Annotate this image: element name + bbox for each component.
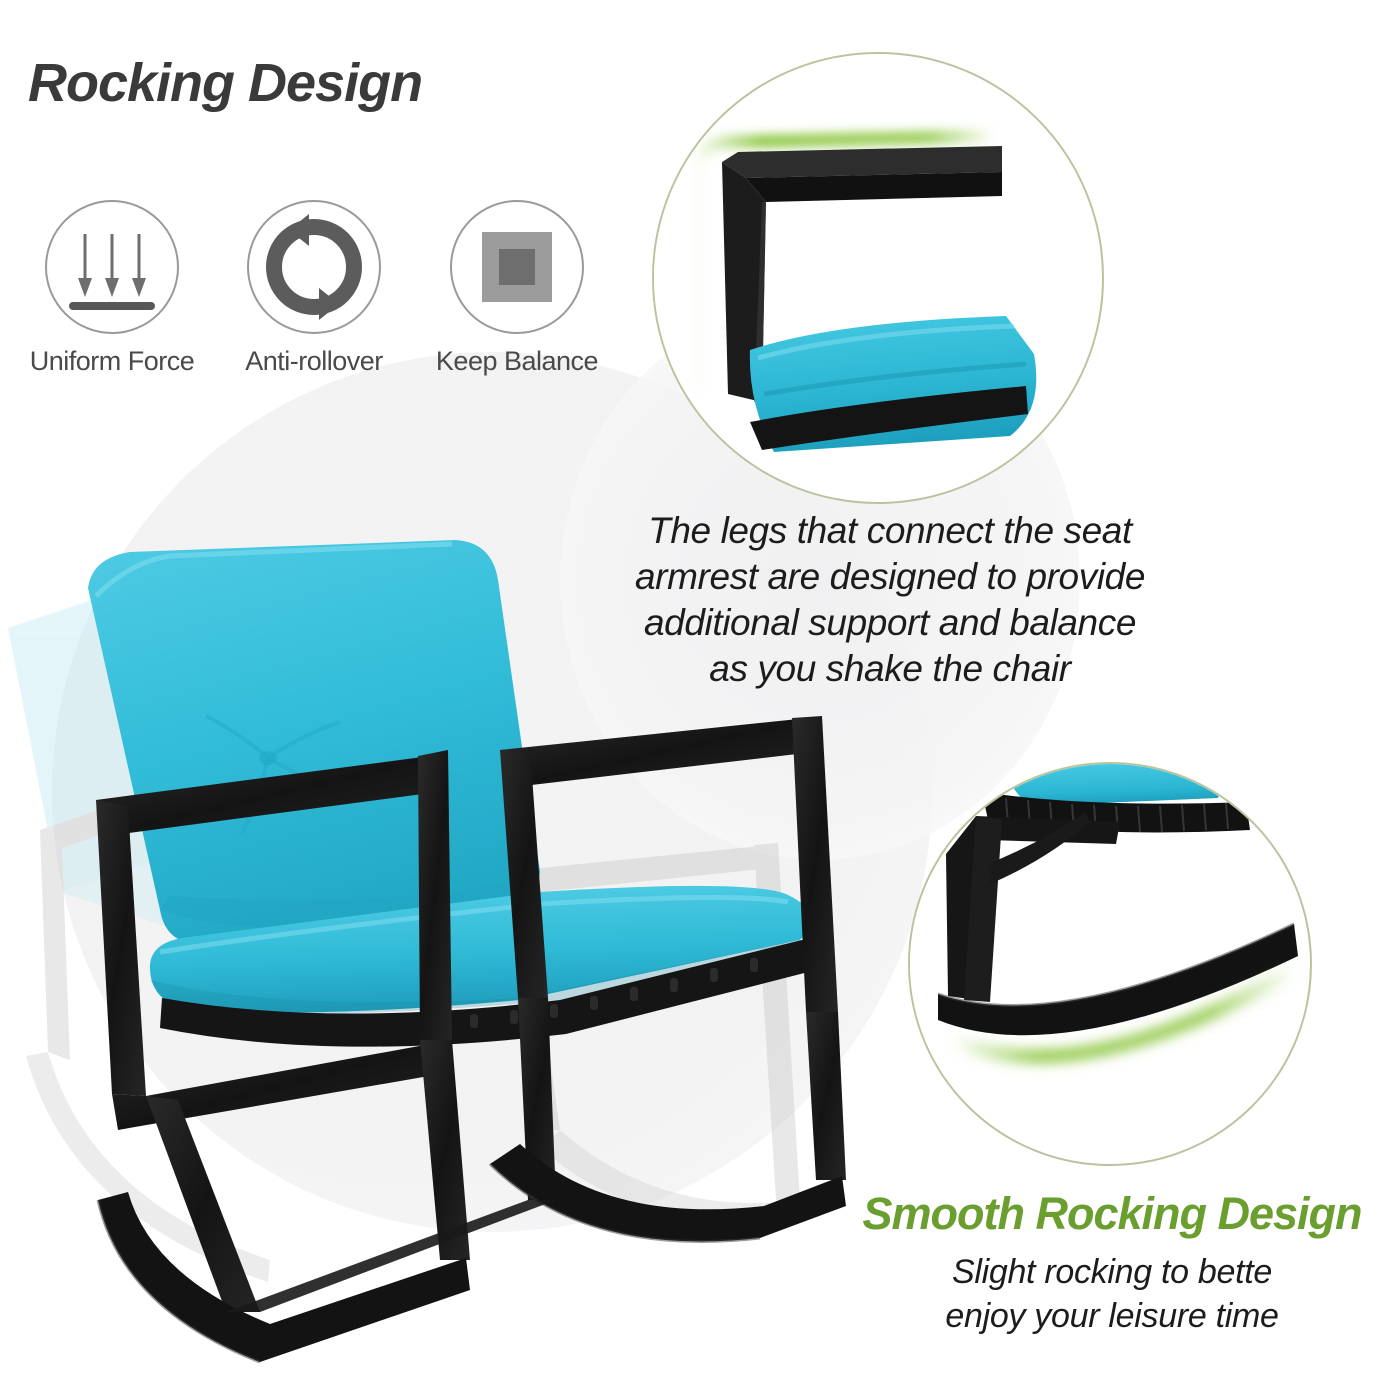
- feature-label: Keep Balance: [417, 346, 617, 377]
- downward-arrows-on-bar-icon: [45, 200, 179, 334]
- inset-rocker-base-closeup: [908, 762, 1312, 1166]
- back-cushion: [88, 540, 540, 944]
- description-line-1: The legs that connect the seat: [600, 508, 1180, 554]
- infographic-canvas: Rocking Design U: [0, 0, 1384, 1384]
- description-line-3: additional support and balance: [600, 600, 1180, 646]
- feature-anti-rollover: Anti-rollover: [214, 200, 414, 377]
- bottom-caption-subtitle: Slight rocking to bette enjoy your leisu…: [840, 1250, 1384, 1338]
- feature-label: Anti-rollover: [214, 346, 414, 377]
- description-line-2: armrest are designed to provide: [600, 554, 1180, 600]
- page-title: Rocking Design: [28, 52, 422, 114]
- circular-rotation-arrows-icon: [247, 200, 381, 334]
- feature-icon-row: Uniform Force Anti-rollover Keep Balance: [12, 200, 612, 400]
- bottom-caption-line-2: enjoy your leisure time: [840, 1294, 1384, 1338]
- bottom-caption-title: Smooth Rocking Design: [840, 1188, 1384, 1240]
- feature-uniform-force: Uniform Force: [12, 200, 212, 377]
- inset-armrest-frame-closeup: [652, 52, 1104, 504]
- nested-squares-icon: [450, 200, 584, 334]
- bottom-caption-block: Smooth Rocking Design Slight rocking to …: [840, 1188, 1384, 1338]
- description-text: The legs that connect the seat armrest a…: [600, 508, 1180, 692]
- feature-label: Uniform Force: [12, 346, 212, 377]
- bottom-caption-line-1: Slight rocking to bette: [840, 1250, 1384, 1294]
- description-line-4: as you shake the chair: [600, 646, 1180, 692]
- feature-keep-balance: Keep Balance: [417, 200, 617, 377]
